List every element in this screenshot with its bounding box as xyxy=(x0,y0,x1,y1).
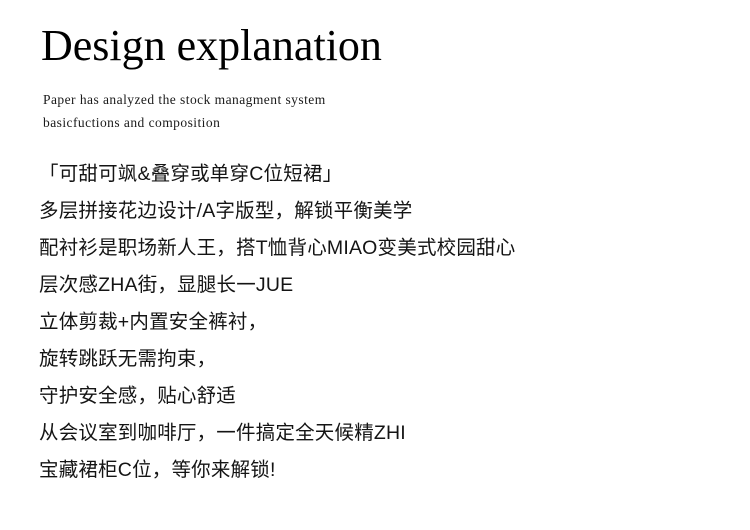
body-line-2: 多层拼接花边设计/A字版型，解锁平衡美学 xyxy=(39,193,719,230)
subtitle-block: Paper has analyzed the stock managment s… xyxy=(43,88,326,134)
body-line-7: 守护安全感，贴心舒适 xyxy=(39,378,719,415)
title-block: Design explanation xyxy=(41,22,382,70)
body-line-8: 从会议室到咖啡厅，一件搞定全天候精ZHI xyxy=(39,415,719,452)
body-line-5: 立体剪裁+内置安全裤衬， xyxy=(39,304,719,341)
subtitle-line-1: Paper has analyzed the stock managment s… xyxy=(43,88,326,111)
body-line-6: 旋转跳跃无需拘束， xyxy=(39,341,719,378)
subtitle-line-2: basicfuctions and composition xyxy=(43,111,326,134)
page-title: Design explanation xyxy=(41,22,382,70)
body-line-3: 配衬衫是职场新人王，搭T恤背心MIAO变美式校园甜心 xyxy=(39,230,719,267)
body-line-9: 宝藏裙柜C位，等你来解锁! xyxy=(39,452,719,489)
design-explanation-page: Design explanation Paper has analyzed th… xyxy=(0,0,750,530)
body-text-block: 「可甜可飒&叠穿或单穿C位短裙」 多层拼接花边设计/A字版型，解锁平衡美学 配衬… xyxy=(39,156,719,489)
body-line-4: 层次感ZHA街，显腿长一JUE xyxy=(39,267,719,304)
body-line-1: 「可甜可飒&叠穿或单穿C位短裙」 xyxy=(39,156,719,193)
